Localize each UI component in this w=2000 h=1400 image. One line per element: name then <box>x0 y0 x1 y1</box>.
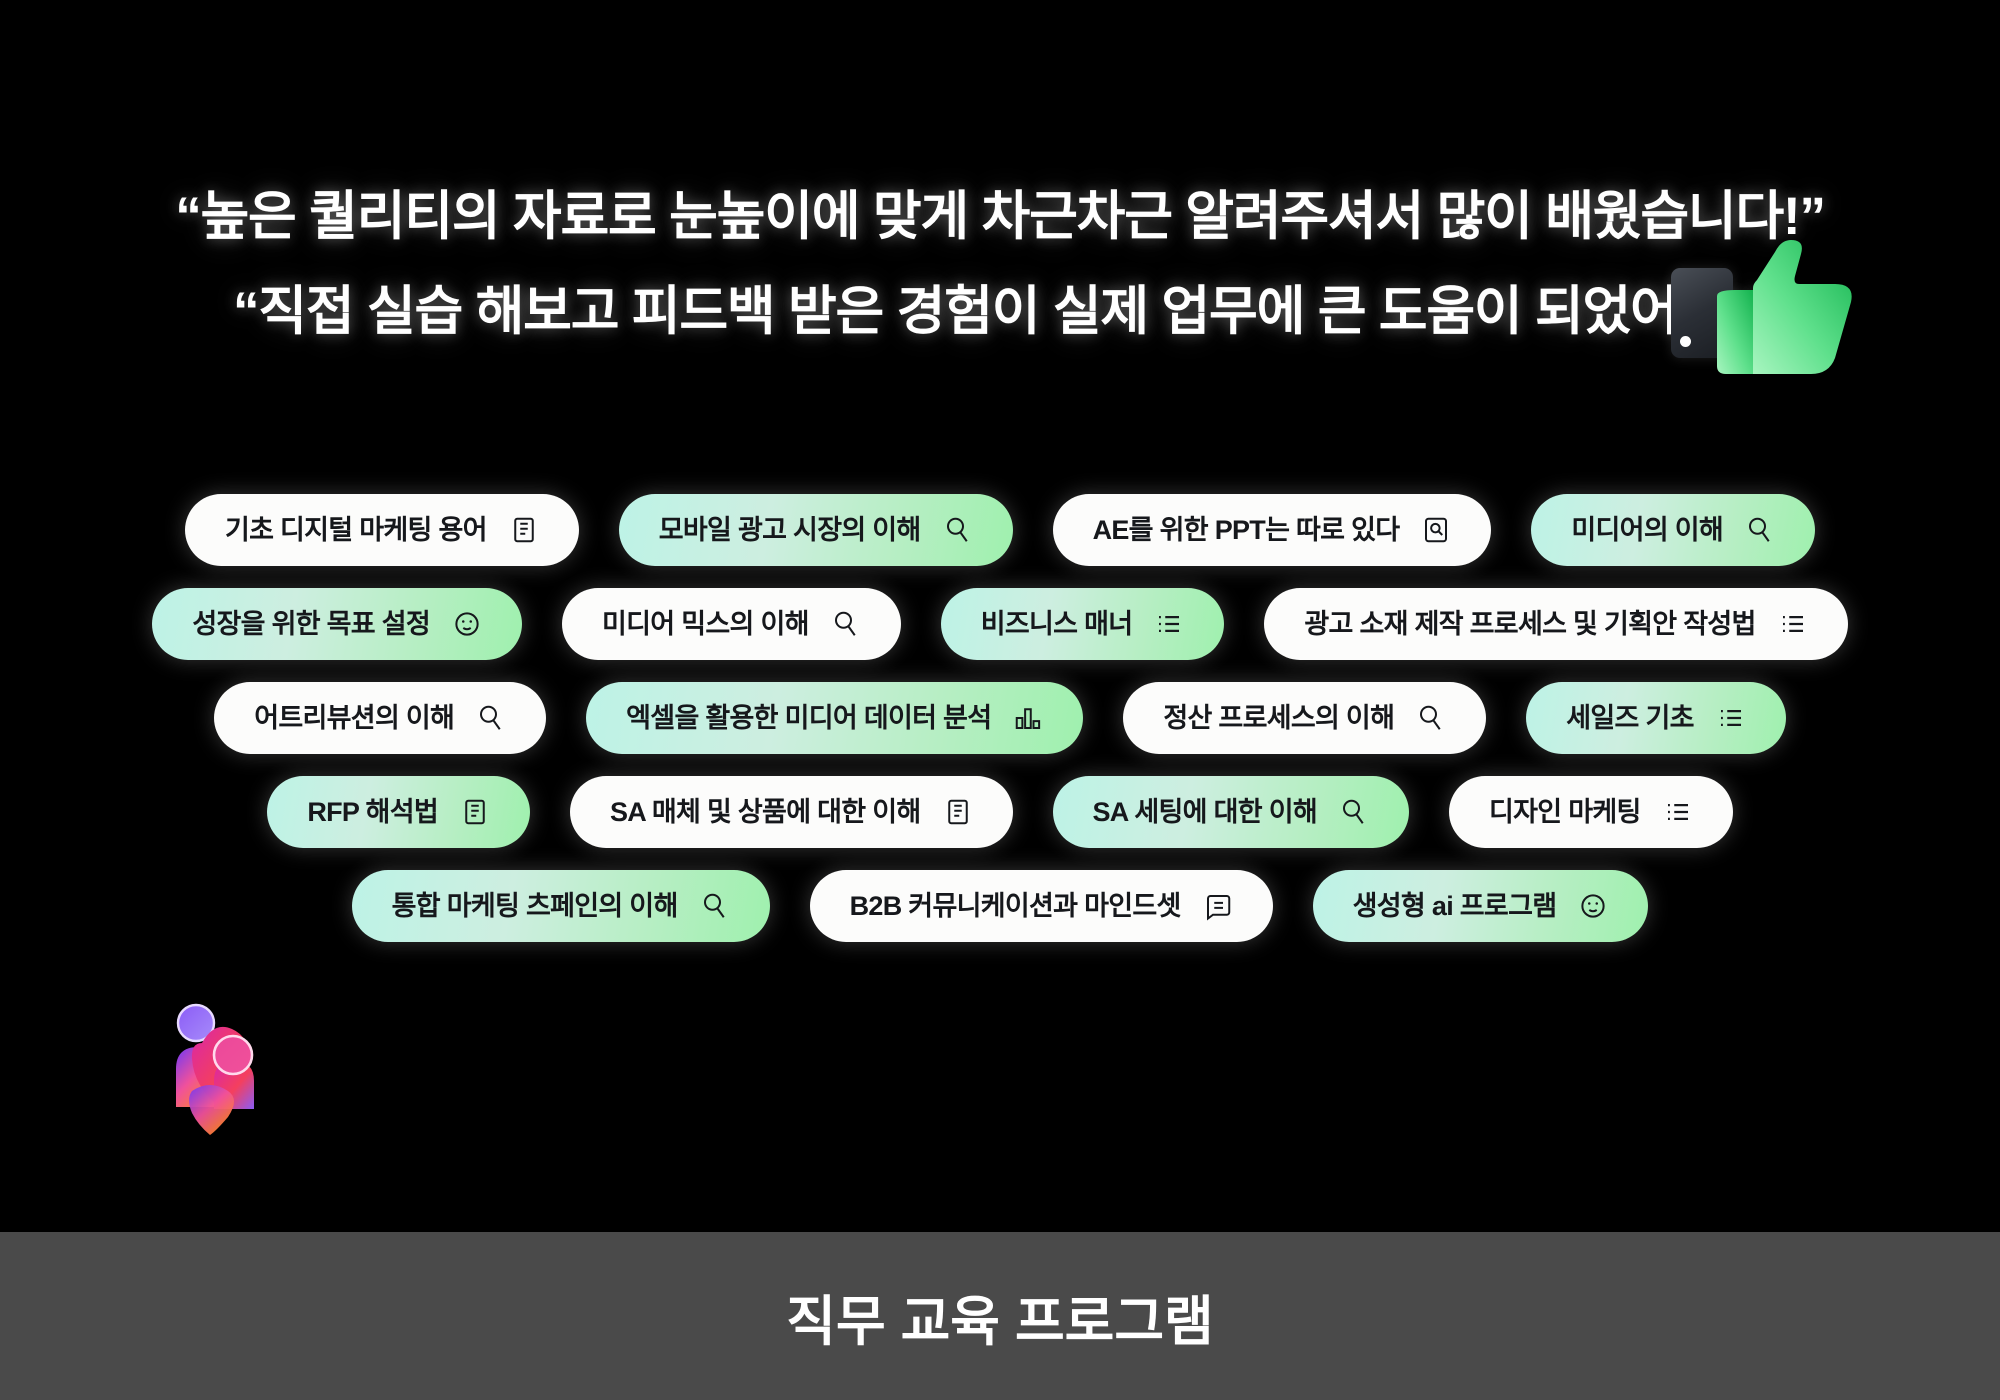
pill-label: 미디어 믹스의 이해 <box>602 611 809 638</box>
pill-row-4: RFP 해석법 SA 매체 및 상품에 대한 이해 SA 세팅에 대한 이해 디… <box>0 765 2000 859</box>
pill-generative-ai-program[interactable]: 생성형 ai 프로그램 <box>1313 870 1649 942</box>
pill-label: 비즈니스 매너 <box>981 611 1133 638</box>
pill-label: 광고 소재 제작 프로세스 및 기획안 작성법 <box>1304 611 1755 638</box>
pill-row-5: 통합 마케팅 츠페인의 이해 B2B 커뮤니케이션과 마인드셋 생성형 ai 프… <box>0 859 2000 953</box>
pill-mobile-ad-market[interactable]: 모바일 광고 시장의 이해 <box>619 494 1013 566</box>
pill-label: SA 매체 및 상품에 대한 이해 <box>610 799 921 826</box>
pill-label: 엑셀을 활용한 미디어 데이터 분석 <box>626 705 991 732</box>
thumbs-up-badge-icon <box>1663 238 1853 378</box>
pill-label: 모바일 광고 시장의 이해 <box>659 517 921 544</box>
pill-label: 성장을 위한 목표 설정 <box>192 611 430 638</box>
pill-label: AE를 위한 PPT는 따로 있다 <box>1093 517 1400 544</box>
pill-rfp-interpretation[interactable]: RFP 해석법 <box>267 776 530 848</box>
pill-business-manner[interactable]: 비즈니스 매너 <box>941 588 1225 660</box>
pill-basic-digital-marketing-terms[interactable]: 기초 디지털 마케팅 용어 <box>185 494 579 566</box>
pill-excel-media-data-analysis[interactable]: 엑셀을 활용한 미디어 데이터 분석 <box>586 682 1083 754</box>
pill-label: 기초 디지털 마케팅 용어 <box>225 517 487 544</box>
pill-media-mix[interactable]: 미디어 믹스의 이해 <box>562 588 901 660</box>
search-icon <box>1745 515 1775 545</box>
list-icon <box>1778 609 1808 639</box>
pill-sa-media-products[interactable]: SA 매체 및 상품에 대한 이해 <box>570 776 1013 848</box>
pill-label: 어트리뷰션의 이해 <box>254 705 454 732</box>
program-pill-grid: 기초 디지털 마케팅 용어 모바일 광고 시장의 이해 AE를 위한 PPT는 … <box>0 483 2000 953</box>
list-icon <box>1663 797 1693 827</box>
search-icon <box>943 515 973 545</box>
people-heart-icon <box>140 995 290 1145</box>
pill-media-understanding[interactable]: 미디어의 이해 <box>1531 494 1815 566</box>
thumbs-up-hand-shape <box>1707 238 1855 378</box>
search-icon <box>700 891 730 921</box>
pill-label: RFP 해석법 <box>307 799 438 826</box>
search-icon <box>831 609 861 639</box>
pill-row-1: 기초 디지털 마케팅 용어 모바일 광고 시장의 이해 AE를 위한 PPT는 … <box>0 483 2000 577</box>
pill-settlement-process[interactable]: 정산 프로세스의 이해 <box>1123 682 1486 754</box>
pill-label: 디자인 마케팅 <box>1489 799 1641 826</box>
caption-bar: 직무 교육 프로그램 <box>0 1232 2000 1400</box>
pill-attribution[interactable]: 어트리뷰션의 이해 <box>214 682 546 754</box>
bar-chart-icon <box>1013 703 1043 733</box>
pill-row-3: 어트리뷰션의 이해 엑셀을 활용한 미디어 데이터 분석 정산 프로세스의 이해… <box>0 671 2000 765</box>
book-icon <box>509 515 539 545</box>
pill-label: B2B 커뮤니케이션과 마인드셋 <box>850 893 1181 920</box>
list-icon <box>1154 609 1184 639</box>
smiley-icon <box>452 609 482 639</box>
pill-sales-basics[interactable]: 세일즈 기초 <box>1526 682 1786 754</box>
pill-sa-setting[interactable]: SA 세팅에 대한 이해 <box>1053 776 1410 848</box>
pill-label: SA 세팅에 대한 이해 <box>1093 799 1318 826</box>
pill-growth-goal-setting[interactable]: 성장을 위한 목표 설정 <box>152 588 522 660</box>
pill-label: 미디어의 이해 <box>1571 517 1723 544</box>
pill-label: 세일즈 기초 <box>1566 705 1694 732</box>
slide-stage: “높은 퀄리티의 자료로 눈높이에 맞게 차근차근 알려주셔서 많이 배웠습니다… <box>0 0 2000 1400</box>
quote-line-1: “높은 퀄리티의 자료로 눈높이에 맞게 차근차근 알려주셔서 많이 배웠습니다… <box>0 190 2000 243</box>
pill-ad-creative-process[interactable]: 광고 소재 제작 프로세스 및 기획안 작성법 <box>1264 588 1847 660</box>
smiley-icon <box>1578 891 1608 921</box>
pill-b2b-communication-mindset[interactable]: B2B 커뮤니케이션과 마인드셋 <box>810 870 1273 942</box>
pill-label: 통합 마케팅 츠페인의 이해 <box>392 893 678 920</box>
slide-canvas: “높은 퀄리티의 자료로 눈높이에 맞게 차근차근 알려주셔서 많이 배웠습니다… <box>0 0 2000 1232</box>
pill-ae-ppt[interactable]: AE를 위한 PPT는 따로 있다 <box>1053 494 1492 566</box>
book-icon <box>943 797 973 827</box>
pill-label: 정산 프로세스의 이해 <box>1163 705 1394 732</box>
pill-label: 생성형 ai 프로그램 <box>1353 893 1557 920</box>
search-icon <box>1339 797 1369 827</box>
search-icon <box>1416 703 1446 733</box>
pill-row-2: 성장을 위한 목표 설정 미디어 믹스의 이해 비즈니스 매너 광고 소재 제작… <box>0 577 2000 671</box>
chat-box-icon <box>1203 891 1233 921</box>
caption-text: 직무 교육 프로그램 <box>786 1277 1213 1356</box>
search-icon <box>476 703 506 733</box>
pill-design-marketing[interactable]: 디자인 마케팅 <box>1449 776 1733 848</box>
list-icon <box>1716 703 1746 733</box>
book-icon <box>460 797 490 827</box>
search-box-icon <box>1421 515 1451 545</box>
pill-integrated-marketing-campaign[interactable]: 통합 마케팅 츠페인의 이해 <box>352 870 770 942</box>
